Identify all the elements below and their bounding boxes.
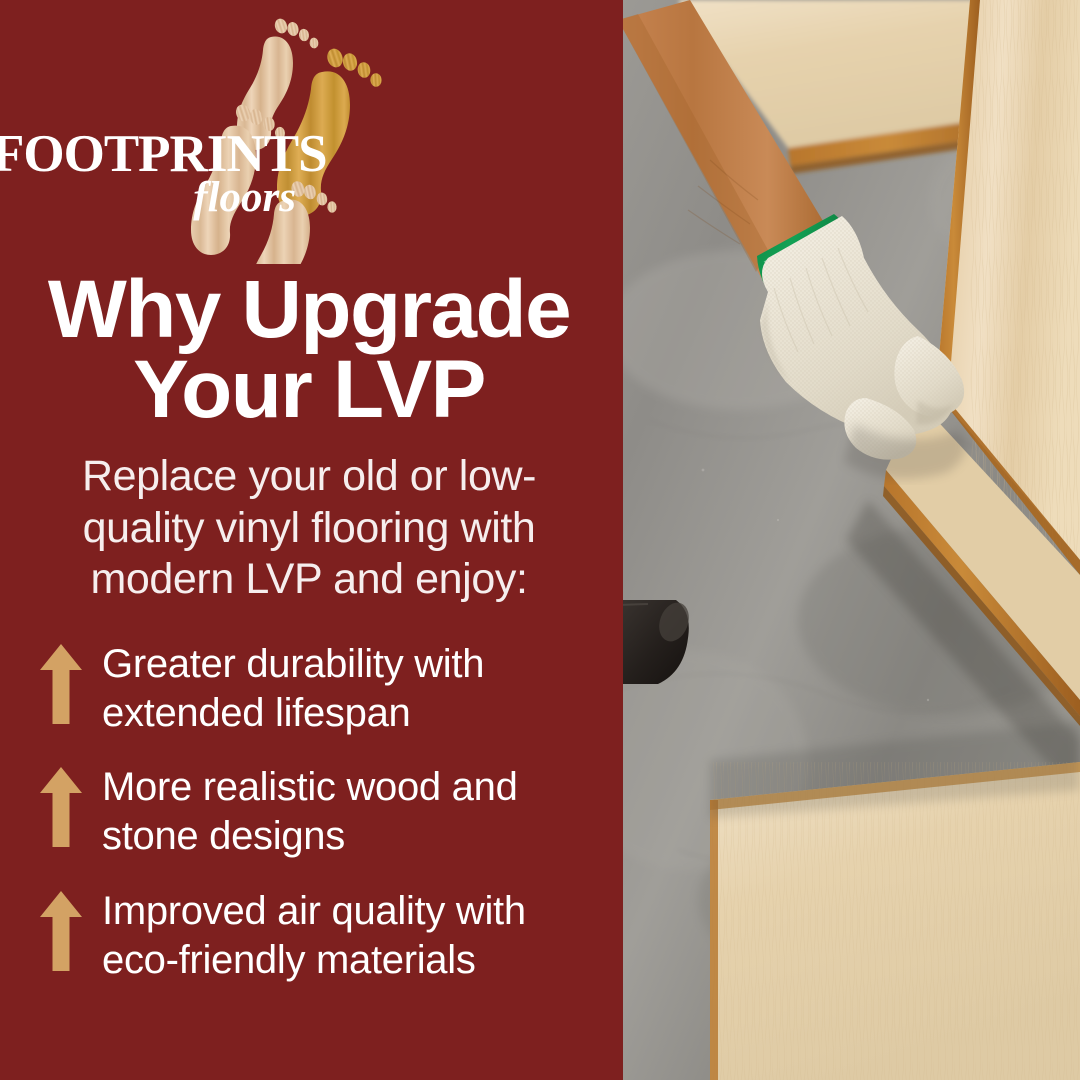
brand-logo: FOOTPRINTS floors xyxy=(0,0,618,268)
benefit-2-line-2: stone designs xyxy=(102,814,345,858)
benefit-3-line-2: eco-friendly materials xyxy=(102,938,476,982)
list-item: Greater durability with extended lifespa… xyxy=(40,640,598,738)
benefits-list: Greater durability with extended lifespa… xyxy=(0,640,618,985)
list-item-label: More realistic wood and stone designs xyxy=(102,763,518,861)
list-item-label: Improved air quality with eco-friendly m… xyxy=(102,887,526,985)
benefit-1-line-1: Greater durability with xyxy=(102,642,484,686)
page-subtitle-line-3: modern LVP and enjoy: xyxy=(90,555,527,603)
page-title-line-2: Your LVP xyxy=(8,350,610,430)
footprints-icon xyxy=(159,14,459,264)
page-subtitle: Replace your old or low- quality vinyl f… xyxy=(0,451,618,606)
benefit-1-line-2: extended lifespan xyxy=(102,691,410,735)
page-title: Why Upgrade Your LVP xyxy=(0,270,618,429)
arrow-up-icon xyxy=(40,644,82,724)
poster-canvas: FOOTPRINTS floors Why Upgrade Your LVP R… xyxy=(0,0,1080,1080)
arrow-up-icon xyxy=(40,891,82,971)
page-subtitle-line-1: Replace your old or low- xyxy=(82,452,536,500)
page-subtitle-line-2: quality vinyl flooring with xyxy=(83,504,536,552)
list-item: More realistic wood and stone designs xyxy=(40,763,598,861)
benefit-3-line-1: Improved air quality with xyxy=(102,889,526,933)
flooring-installation-photo xyxy=(618,0,1080,1080)
benefit-2-line-1: More realistic wood and xyxy=(102,765,518,809)
left-red-panel: FOOTPRINTS floors Why Upgrade Your LVP R… xyxy=(0,0,618,1080)
list-item: Improved air quality with eco-friendly m… xyxy=(40,887,598,985)
list-item-label: Greater durability with extended lifespa… xyxy=(102,640,484,738)
arrow-up-icon xyxy=(40,767,82,847)
page-title-line-1: Why Upgrade xyxy=(8,270,610,350)
